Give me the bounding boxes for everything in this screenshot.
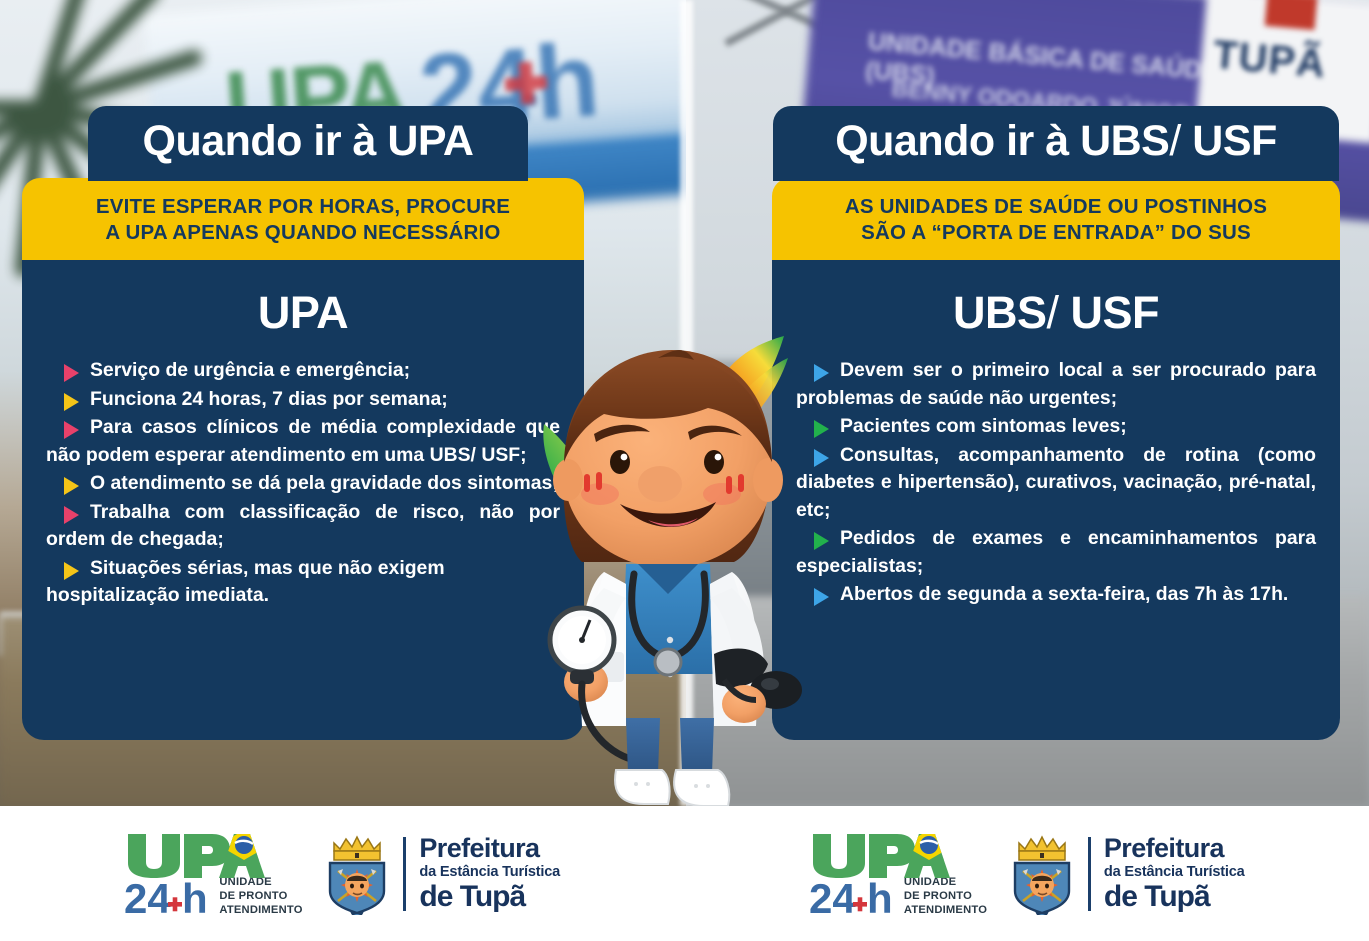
upa-24h-logo: 24 h UNIDADE DE PRONTO ATENDIMENTO bbox=[124, 826, 276, 922]
right-panel-body: UBS/ USF Devem ser o primeiro local a se… bbox=[772, 260, 1340, 740]
arrow-bullet-icon bbox=[64, 393, 79, 411]
logo-divider bbox=[1088, 837, 1091, 911]
left-banner-line2: A UPA APENAS QUANDO NECESSÁRIO bbox=[40, 220, 566, 246]
right-card-heading: UBS/ USF bbox=[796, 290, 1316, 335]
list-item: O atendimento se dá pela gravidade dos s… bbox=[46, 470, 560, 498]
bg-medical-cross-icon bbox=[504, 61, 549, 106]
right-title-tail: USF bbox=[1181, 117, 1277, 165]
list-item-text: Serviço de urgência e emergência; bbox=[90, 359, 410, 381]
svg-text:24: 24 bbox=[124, 875, 171, 919]
prefeitura-line3: de Tupã bbox=[1104, 882, 1245, 912]
prefeitura-line2: da Estância Turística bbox=[419, 865, 560, 880]
list-item-text: Situações sérias, mas que não exigem hos… bbox=[46, 557, 445, 607]
logo-group-right: 24 h UNIDADE DE PRONTO ATENDIMENTO bbox=[685, 826, 1369, 922]
prefeitura-text: Prefeitura da Estância Turística de Tupã bbox=[419, 835, 560, 912]
upa-wordmark bbox=[809, 826, 961, 878]
footer-logos: 24 h UNIDADE DE PRONTO ATENDIMENTO bbox=[0, 806, 1369, 941]
right-title-main: Quando ir à UBS bbox=[835, 117, 1169, 165]
list-item-text: Pacientes com sintomas leves; bbox=[840, 415, 1127, 437]
left-panel-title: Quando ir à UPA bbox=[88, 106, 528, 181]
left-panel-banner: EVITE ESPERAR POR HORAS, PROCURE A UPA A… bbox=[22, 178, 584, 260]
tupa-coat-of-arms-icon bbox=[1009, 833, 1075, 915]
list-item: Para casos clínicos de média complexidad… bbox=[46, 414, 560, 469]
prefeitura-logo: Prefeitura da Estância Turística de Tupã bbox=[324, 833, 560, 915]
upa-sub-line2: DE PRONTO bbox=[904, 889, 987, 903]
list-item-text: Consultas, acompanhamento de rotina (com… bbox=[796, 444, 1316, 521]
upa-sub-line3: ATENDIMENTO bbox=[219, 903, 302, 917]
upa-24h-sub-block: 24 h UNIDADE DE PRONTO ATENDIMENTO bbox=[124, 875, 276, 919]
list-item: Abertos de segunda a sexta-feira, das 7h… bbox=[796, 581, 1316, 609]
left-banner-line1: EVITE ESPERAR POR HORAS, PROCURE bbox=[40, 194, 566, 220]
right-panel: AS UNIDADES DE SAÚDE OU POSTINHOS SÃO A … bbox=[772, 178, 1340, 740]
right-panel-banner: AS UNIDADES DE SAÚDE OU POSTINHOS SÃO A … bbox=[772, 178, 1340, 260]
list-item-text: Trabalha com classificação de risco, não… bbox=[46, 501, 560, 551]
arrow-bullet-icon bbox=[64, 506, 79, 524]
prefeitura-text: Prefeitura da Estância Turística de Tupã bbox=[1104, 835, 1245, 912]
right-heading-tail: USF bbox=[1059, 287, 1160, 338]
list-item: Serviço de urgência e emergência; bbox=[46, 357, 560, 385]
upa-24h-sub-block: 24 h UNIDADE DE PRONTO ATENDIMENTO bbox=[809, 875, 961, 919]
tupa-coat-of-arms-icon bbox=[324, 833, 390, 915]
prefeitura-line1: Prefeitura bbox=[1104, 835, 1245, 862]
upa-sub-line2: DE PRONTO bbox=[219, 889, 302, 903]
svg-text:24: 24 bbox=[809, 875, 856, 919]
upa-wordmark bbox=[124, 826, 276, 878]
upa-sub-line3: ATENDIMENTO bbox=[904, 903, 987, 917]
right-banner-line2: SÃO A “PORTA DE ENTRADA” DO SUS bbox=[790, 220, 1322, 246]
upa-subtitle-block: UNIDADE DE PRONTO ATENDIMENTO bbox=[219, 875, 302, 919]
upa-24h-mark: 24 h bbox=[124, 875, 210, 919]
list-item: Funciona 24 horas, 7 dias por semana; bbox=[46, 386, 560, 414]
left-card-heading: UPA bbox=[46, 290, 560, 335]
right-heading-slash: / bbox=[1046, 287, 1058, 338]
list-item: Pedidos de exames e encaminhamentos para… bbox=[796, 525, 1316, 580]
left-panel-body: UPA Serviço de urgência e emergência; Fu… bbox=[22, 260, 584, 740]
logo-group-left: 24 h UNIDADE DE PRONTO ATENDIMENTO bbox=[0, 826, 685, 922]
prefeitura-line3: de Tupã bbox=[419, 882, 560, 912]
upa-24h-logo: 24 h UNIDADE DE PRONTO ATENDIMENTO bbox=[809, 826, 961, 922]
mascot-illustration bbox=[508, 322, 828, 814]
upa-24h-mark: 24 h bbox=[809, 875, 895, 919]
list-item-text: O atendimento se dá pela gravidade dos s… bbox=[90, 472, 559, 494]
prefeitura-line2: da Estância Turística bbox=[1104, 865, 1245, 880]
right-title-slash: / bbox=[1169, 117, 1180, 165]
list-item: Consultas, acompanhamento de rotina (com… bbox=[796, 442, 1316, 525]
list-item: Devem ser o primeiro local a ser procura… bbox=[796, 357, 1316, 412]
prefeitura-logo: Prefeitura da Estância Turística de Tupã bbox=[1009, 833, 1245, 915]
svg-text:h: h bbox=[182, 875, 208, 919]
arrow-bullet-icon bbox=[64, 562, 79, 580]
upa-criteria-list: Serviço de urgência e emergência; Funcio… bbox=[46, 357, 560, 610]
upa-subtitle-block: UNIDADE DE PRONTO ATENDIMENTO bbox=[904, 875, 987, 919]
list-item-text: Para casos clínicos de média complexidad… bbox=[46, 416, 560, 466]
prefeitura-line1: Prefeitura bbox=[419, 835, 560, 862]
list-item-text: Devem ser o primeiro local a ser procura… bbox=[796, 359, 1316, 409]
svg-text:h: h bbox=[867, 875, 893, 919]
logo-divider bbox=[403, 837, 406, 911]
list-item-text: Funciona 24 horas, 7 dias por semana; bbox=[90, 388, 448, 410]
list-item-text: Abertos de segunda a sexta-feira, das 7h… bbox=[840, 583, 1288, 605]
right-banner-line1: AS UNIDADES DE SAÚDE OU POSTINHOS bbox=[790, 194, 1322, 220]
ubs-sign-red-mark bbox=[1265, 0, 1318, 30]
infographic-stage: UPA 24h ATENDIMENTO UNIDADE BÁSICA DE SA… bbox=[0, 0, 1369, 941]
list-item: Trabalha com classificação de risco, não… bbox=[46, 499, 560, 554]
right-panel-title: Quando ir à UBS/ USF bbox=[773, 106, 1339, 181]
arrow-bullet-icon bbox=[64, 421, 79, 439]
arrow-bullet-icon bbox=[64, 477, 79, 495]
list-item-text: Pedidos de exames e encaminhamentos para… bbox=[796, 527, 1316, 577]
arrow-bullet-icon bbox=[64, 364, 79, 382]
ubs-criteria-list: Devem ser o primeiro local a ser procura… bbox=[796, 357, 1316, 609]
list-item: Situações sérias, mas que não exigem hos… bbox=[46, 555, 560, 610]
left-panel: EVITE ESPERAR POR HORAS, PROCURE A UPA A… bbox=[22, 178, 584, 740]
right-heading-main: UBS bbox=[953, 287, 1047, 338]
list-item: Pacientes com sintomas leves; bbox=[796, 413, 1316, 441]
